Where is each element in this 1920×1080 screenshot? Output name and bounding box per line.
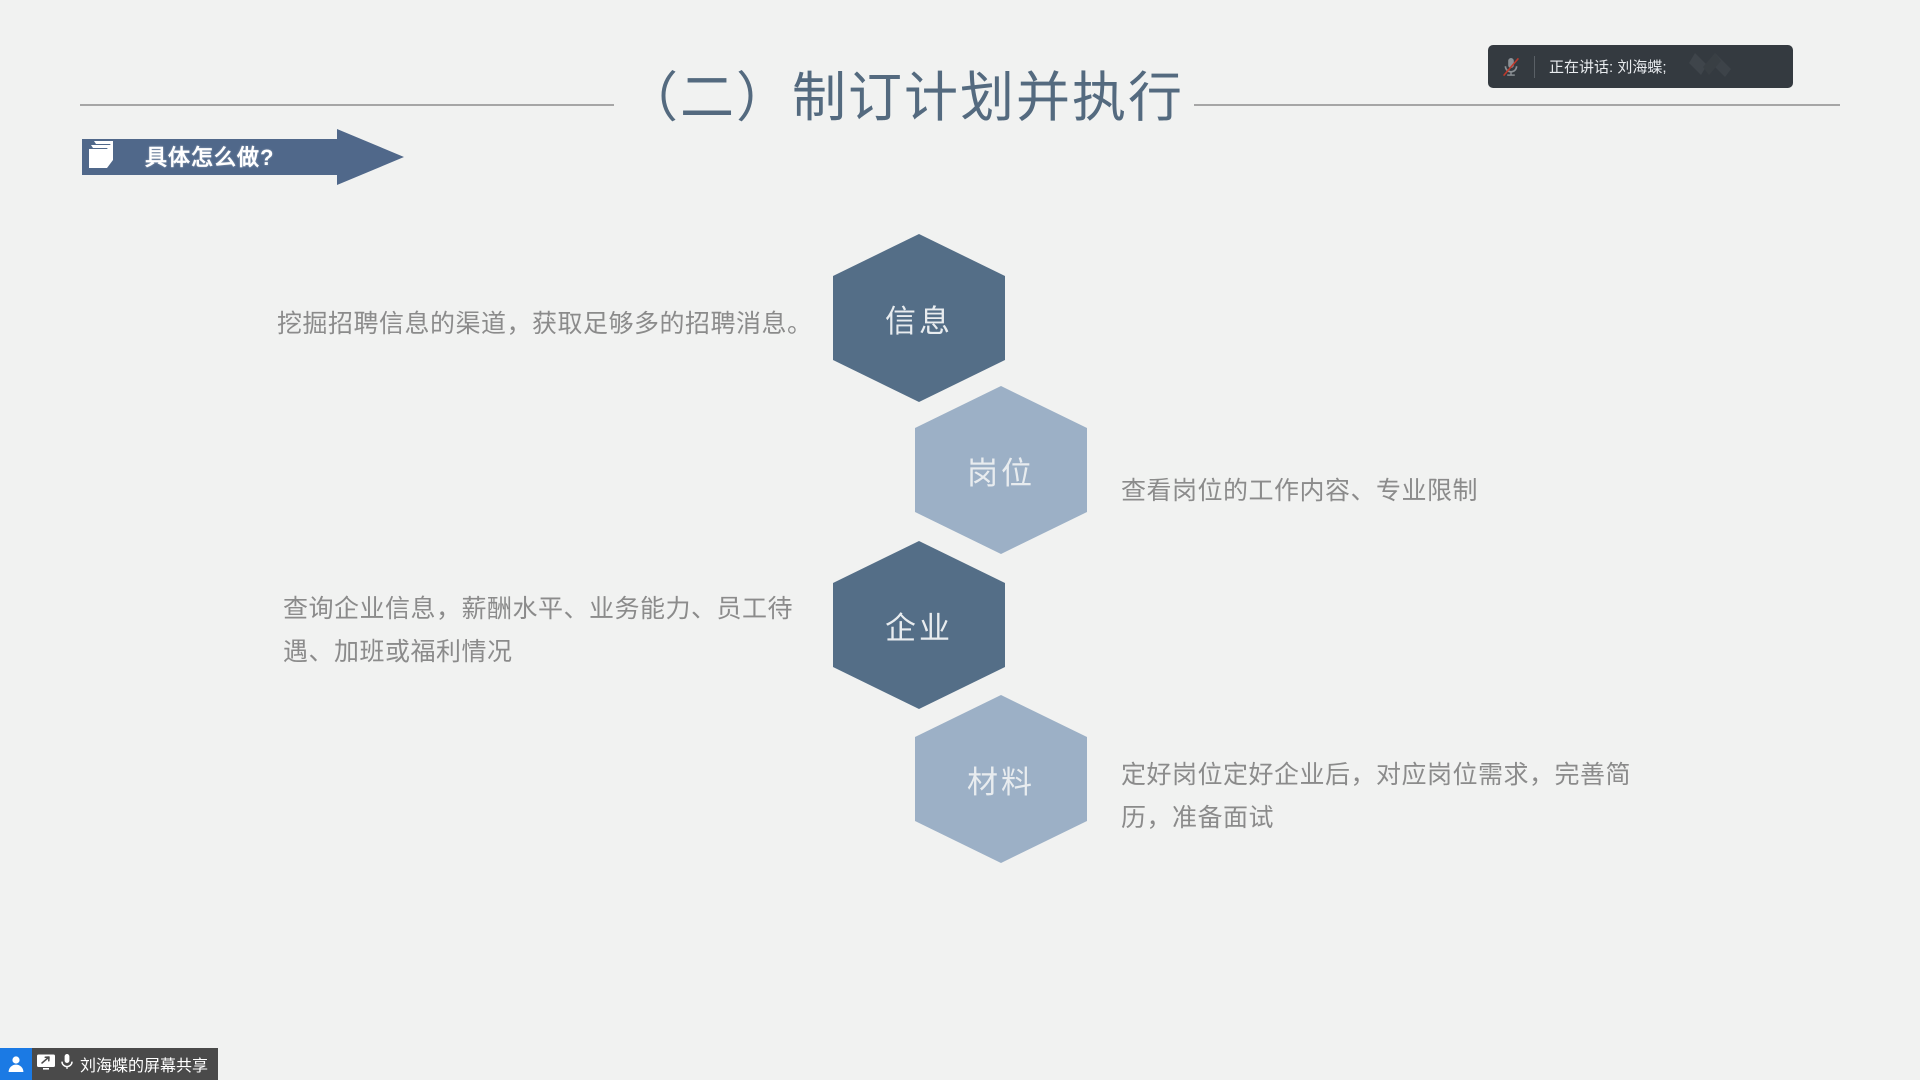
pages-copy-icon (88, 140, 116, 170)
speaker-name-label: 正在讲话: 刘海蝶; (1549, 56, 1667, 77)
speaker-notification[interactable]: 正在讲话: 刘海蝶; (1488, 45, 1793, 88)
hex-step-3: 企业 (833, 541, 1005, 709)
presentation-slide: （二）制订计划并执行 具体怎么做? 信息 岗位 企业 材料 挖掘招聘信息的渠道，… (0, 0, 1920, 1080)
mic-muted-icon (1488, 45, 1534, 88)
hex-label: 信息 (885, 296, 953, 341)
hex-step-4: 材料 (915, 695, 1087, 863)
hex-step-2: 岗位 (915, 386, 1087, 554)
screen-share-chip[interactable]: 刘海蝶的屏幕共享 (32, 1048, 218, 1080)
hex-description-1: 挖掘招聘信息的渠道，获取足够多的招聘消息。 (277, 303, 822, 346)
screen-share-icon (36, 1053, 56, 1076)
hex-description-2: 查看岗位的工作内容、专业限制 (1121, 470, 1681, 513)
hex-description-4: 定好岗位定好企业后，对应岗位需求，完善简历，准备面试 (1121, 754, 1681, 840)
title-rule-right (1194, 104, 1840, 106)
hex-step-1: 信息 (833, 234, 1005, 402)
hex-label: 材料 (967, 757, 1035, 802)
hex-label: 岗位 (967, 448, 1035, 493)
hex-description-3: 查询企业信息，薪酬水平、业务能力、员工待遇、加班或福利情况 (283, 588, 828, 674)
taskbar[interactable]: 刘海蝶的屏幕共享 (0, 1048, 218, 1080)
hex-label: 企业 (885, 603, 953, 648)
arrow-banner-label: 具体怎么做? (145, 140, 274, 172)
microphone-icon (60, 1053, 74, 1076)
person-icon[interactable] (0, 1048, 32, 1080)
title-rule-left (80, 104, 614, 106)
page-title: （二）制订计划并执行 (614, 71, 1194, 139)
share-label: 刘海蝶的屏幕共享 (80, 1052, 208, 1076)
app-logo-icon (1679, 49, 1741, 84)
divider (1534, 56, 1535, 78)
